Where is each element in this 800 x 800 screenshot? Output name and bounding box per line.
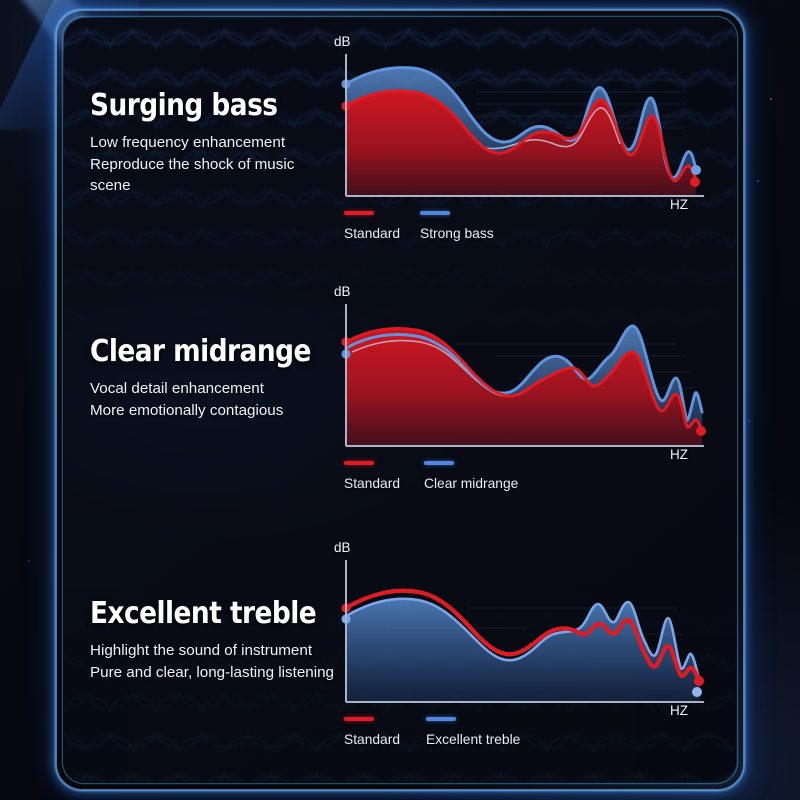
subtitle-line: Highlight the sound of instrument bbox=[90, 640, 338, 662]
legend-label: Strong bass bbox=[420, 226, 494, 241]
legend-item-mode: Strong bass bbox=[420, 211, 494, 241]
legend-swatch-blue bbox=[426, 717, 456, 721]
frequency-response-chart-3: dB HZ Standard Excellent treble bbox=[326, 542, 718, 782]
section-title: Clear midrange bbox=[90, 334, 298, 369]
subtitle-line: Reproduce the shock of music scene bbox=[90, 154, 338, 197]
section-copy: Clear midrange Vocal detail enhancement … bbox=[64, 286, 326, 534]
section-subtitle: Highlight the sound of instrument Pure a… bbox=[90, 640, 338, 683]
legend-item-standard: Standard bbox=[344, 717, 426, 747]
endpoint-dot-red-right bbox=[690, 177, 700, 187]
section-excellent-treble: Excellent treble Highlight the sound of … bbox=[64, 542, 736, 782]
legend-label: Standard bbox=[344, 732, 426, 747]
legend-label: Standard bbox=[344, 476, 424, 491]
feature-panel: Surging bass Low frequency enhancement R… bbox=[64, 18, 736, 782]
x-axis-label: HZ bbox=[670, 197, 688, 212]
frequency-response-chart-1: dB HZ Standard Strong bass bbox=[326, 36, 718, 284]
chart-legend: Standard Strong bass bbox=[344, 211, 494, 241]
legend-label: Standard bbox=[344, 226, 420, 241]
section-copy: Surging bass Low frequency enhancement R… bbox=[64, 36, 326, 284]
section-copy: Excellent treble Highlight the sound of … bbox=[64, 542, 326, 782]
legend-swatch-red bbox=[344, 461, 374, 465]
legend-swatch-blue bbox=[420, 211, 450, 215]
legend-swatch-red bbox=[344, 211, 374, 215]
speck bbox=[748, 420, 750, 422]
subtitle-line: More emotionally contagious bbox=[90, 400, 338, 422]
subtitle-line: Vocal detail enhancement bbox=[90, 378, 338, 400]
legend-label: Clear midrange bbox=[424, 476, 518, 491]
subtitle-line: Low frequency enhancement bbox=[90, 132, 338, 154]
section-subtitle: Low frequency enhancement Reproduce the … bbox=[90, 132, 338, 197]
endpoint-dot-red-right bbox=[694, 676, 704, 686]
section-title: Surging bass bbox=[90, 88, 298, 123]
endpoint-dot-blue-right bbox=[691, 165, 701, 175]
x-axis-label: HZ bbox=[670, 703, 688, 718]
y-axis-label: dB bbox=[334, 34, 351, 49]
chart-legend: Standard Excellent treble bbox=[344, 717, 520, 747]
legend-item-mode: Excellent treble bbox=[426, 717, 520, 747]
section-surging-bass: Surging bass Low frequency enhancement R… bbox=[64, 36, 736, 284]
section-subtitle: Vocal detail enhancement More emotionall… bbox=[90, 378, 338, 421]
section-title: Excellent treble bbox=[90, 596, 298, 631]
legend-item-standard: Standard bbox=[344, 211, 420, 241]
legend-item-mode: Clear midrange bbox=[424, 461, 518, 491]
endpoint-dot-blue-right bbox=[692, 687, 702, 697]
speck bbox=[28, 560, 30, 562]
endpoint-dot-red-right bbox=[696, 426, 706, 436]
chart-legend: Standard Clear midrange bbox=[344, 461, 518, 491]
legend-swatch-red bbox=[344, 717, 374, 721]
speck bbox=[757, 180, 759, 182]
speck bbox=[770, 98, 772, 100]
y-axis-label: dB bbox=[334, 284, 351, 299]
legend-label: Excellent treble bbox=[426, 732, 520, 747]
legend-swatch-blue bbox=[424, 461, 454, 465]
frequency-response-chart-2: dB HZ Standard Clear midrange bbox=[326, 286, 718, 534]
legend-item-standard: Standard bbox=[344, 461, 424, 491]
y-axis-label: dB bbox=[334, 540, 351, 555]
subtitle-line: Pure and clear, long-lasting listening bbox=[90, 662, 338, 684]
section-clear-midrange: Clear midrange Vocal detail enhancement … bbox=[64, 286, 736, 534]
x-axis-label: HZ bbox=[670, 447, 688, 462]
